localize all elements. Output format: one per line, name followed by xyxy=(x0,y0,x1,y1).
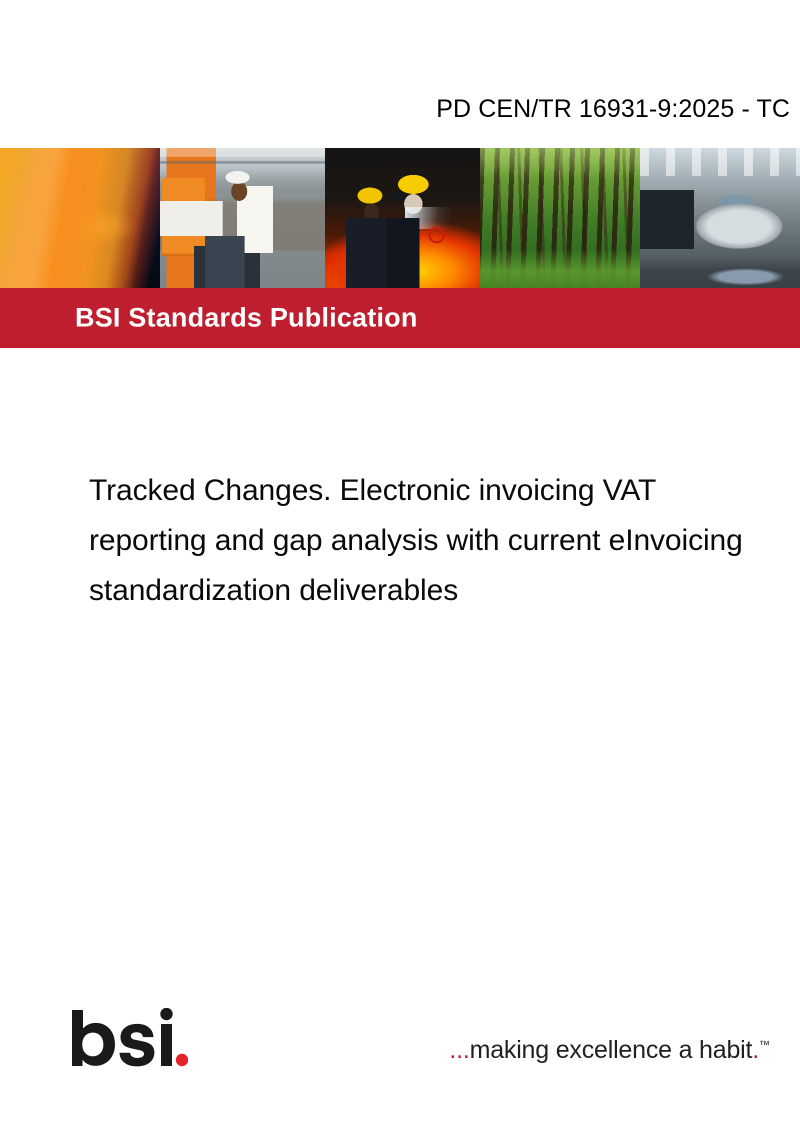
cover-image-traffic-light-trails xyxy=(0,148,160,288)
page-title-line-2: reporting and gap analysis with current … xyxy=(89,516,800,566)
cover-image-strip xyxy=(0,148,800,288)
trademark-symbol: ™ xyxy=(759,1040,770,1052)
banner-label: BSI Standards Publication xyxy=(75,303,418,334)
cover-image-firefighters xyxy=(325,148,480,288)
cover-image-forest xyxy=(480,148,640,288)
bsi-logo xyxy=(70,1008,188,1070)
page-title-line-1: Tracked Changes. Electronic invoicing VA… xyxy=(89,466,800,516)
page-title-line-3: standardization deliverables xyxy=(89,566,800,616)
bsi-tagline: ...making excellence a habit.™ xyxy=(449,1036,770,1065)
tagline-ellipsis: ... xyxy=(449,1036,469,1064)
tagline-period: . xyxy=(752,1036,759,1064)
tagline-text: making excellence a habit xyxy=(470,1036,753,1064)
document-reference: PD CEN/TR 16931-9:2025 - TC xyxy=(0,95,790,124)
standards-publication-banner: BSI Standards Publication xyxy=(0,288,800,348)
cover-image-warehouse-worker xyxy=(160,148,325,288)
page-title: Tracked Changes. Electronic invoicing VA… xyxy=(89,466,800,616)
cover-image-car-assembly-line xyxy=(640,148,800,288)
